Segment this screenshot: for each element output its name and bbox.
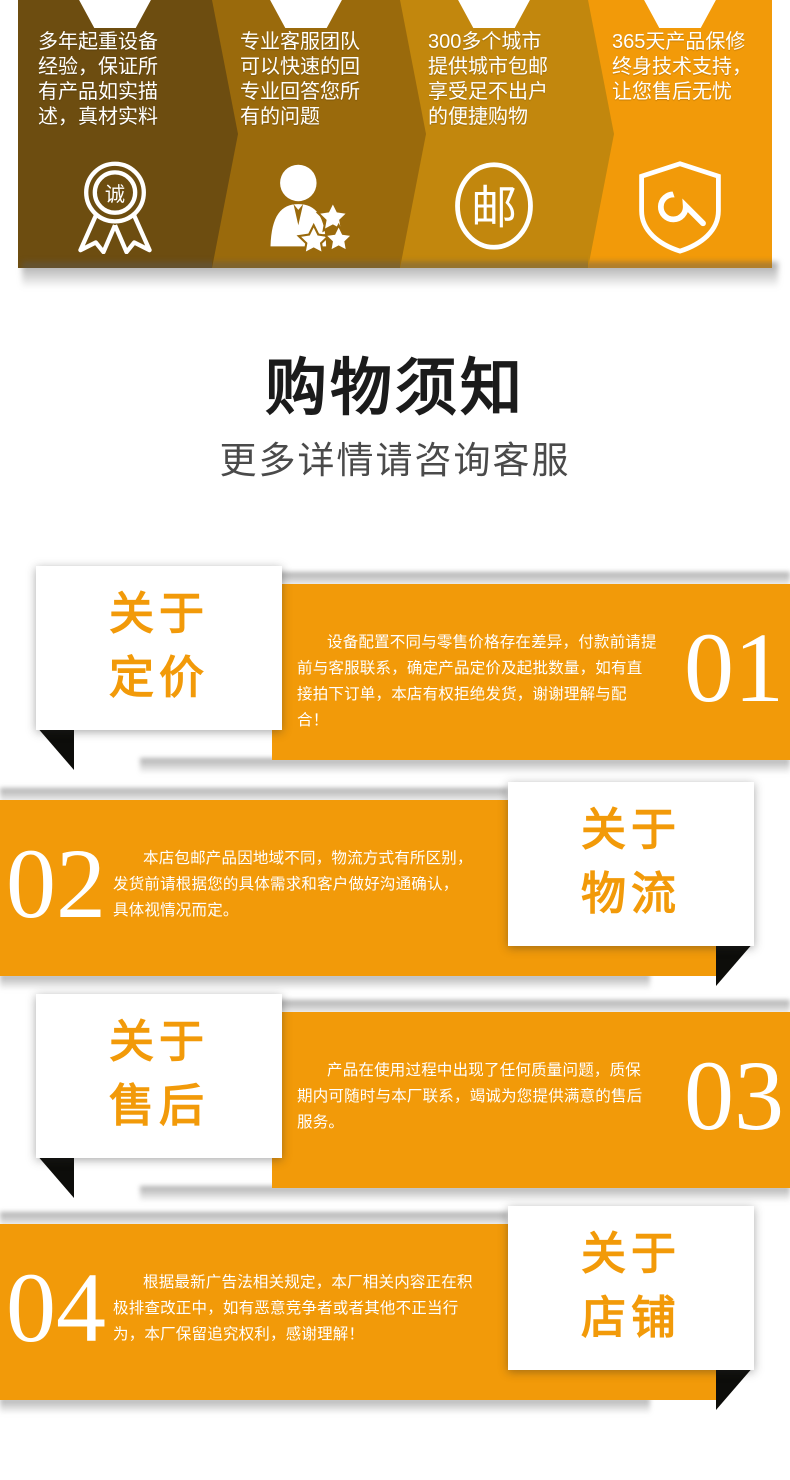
- ribbon-integrity-icon: 诚: [67, 158, 163, 254]
- section-card-title: 关于 定价: [36, 582, 282, 710]
- card-fold-corner: [716, 942, 754, 986]
- banner-column-warranty: 365天产品保修 终身技术支持， 让您售后无忧: [588, 0, 772, 268]
- bar-shadow: [140, 758, 790, 774]
- card-fold-corner: [36, 726, 74, 770]
- page-subtitle: 更多详情请咨询客服: [0, 438, 790, 484]
- bar-shadow: [0, 1398, 650, 1414]
- banner-notch: [78, 0, 152, 28]
- info-section-pricing: 关于 定价 01 设备配置不同与零售价格存在差异，付款前请提前与客服联系，确定产…: [0, 566, 790, 778]
- banner-column-experience: 多年起重设备 经验，保证所 有产品如实描 述，真材实料 诚: [18, 0, 212, 268]
- section-card: 关于 售后: [36, 994, 282, 1158]
- banner-column-service: 专业客服团队 可以快速的回 专业回答您所 有的问题: [212, 0, 400, 268]
- card-fold-corner: [36, 1154, 74, 1198]
- banner-column-text: 300多个城市 提供城市包邮 享受足不出户 的便捷购物: [428, 30, 548, 130]
- banner-drop-shadow: [22, 262, 778, 288]
- bar-shadow: [0, 974, 650, 990]
- section-card-title: 关于 店铺: [508, 1222, 754, 1350]
- banner-column-shipping: 300多个城市 提供城市包邮 享受足不出户 的便捷购物 邮: [400, 0, 588, 268]
- postal-circle-icon: 邮: [446, 158, 542, 254]
- section-card-title: 关于 物流: [508, 798, 754, 926]
- section-heading: 购物须知 更多详情请咨询客服: [0, 352, 790, 484]
- banner-column-text: 365天产品保修 终身技术支持， 让您售后无忧: [612, 30, 752, 105]
- info-section-store: 关于 店铺 04 根据最新广告法相关规定，本厂相关内容正在积极排查改正中，如有恶…: [0, 1206, 790, 1418]
- section-card: 关于 物流: [508, 782, 754, 946]
- info-section-aftersales: 关于 售后 03 产品在使用过程中出现了任何质量问题，质保期内可随时与本厂联系，…: [0, 994, 790, 1206]
- feature-banner: 多年起重设备 经验，保证所 有产品如实描 述，真材实料 诚 专业客服团队 可以快…: [18, 0, 772, 268]
- page-title: 购物须知: [0, 352, 790, 426]
- section-body-text: 本店包邮产品因地域不同，物流方式有所区别，发货前请根据您的具体需求和客户做好沟通…: [113, 846, 473, 924]
- banner-notch: [457, 0, 531, 28]
- section-number: 01: [684, 618, 784, 718]
- shield-wrench-icon: [632, 158, 728, 254]
- section-card: 关于 店铺: [508, 1206, 754, 1370]
- section-body-text: 根据最新广告法相关规定，本厂相关内容正在积极排查改正中，如有恶意竞争者或者其他不…: [113, 1270, 473, 1348]
- agent-stars-icon: [258, 158, 354, 254]
- section-number: 04: [6, 1258, 106, 1358]
- svg-text:邮: 邮: [471, 181, 517, 233]
- info-section-logistics: 关于 物流 02 本店包邮产品因地域不同，物流方式有所区别，发货前请根据您的具体…: [0, 782, 790, 994]
- section-number: 03: [684, 1046, 784, 1146]
- card-fold-corner: [716, 1366, 754, 1410]
- banner-notch: [643, 0, 717, 28]
- section-card: 关于 定价: [36, 566, 282, 730]
- section-body-text: 产品在使用过程中出现了任何质量问题，质保期内可随时与本厂联系，竭诚为您提供满意的…: [297, 1058, 647, 1136]
- banner-column-text: 多年起重设备 经验，保证所 有产品如实描 述，真材实料: [38, 30, 158, 130]
- section-body-text: 设备配置不同与零售价格存在差异，付款前请提前与客服联系，确定产品定价及起批数量，…: [297, 630, 657, 734]
- banner-notch: [269, 0, 343, 28]
- section-card-title: 关于 售后: [36, 1010, 282, 1138]
- banner-column-text: 专业客服团队 可以快速的回 专业回答您所 有的问题: [240, 30, 360, 130]
- bar-shadow: [140, 1186, 790, 1202]
- svg-text:诚: 诚: [105, 183, 125, 206]
- section-number: 02: [6, 834, 106, 934]
